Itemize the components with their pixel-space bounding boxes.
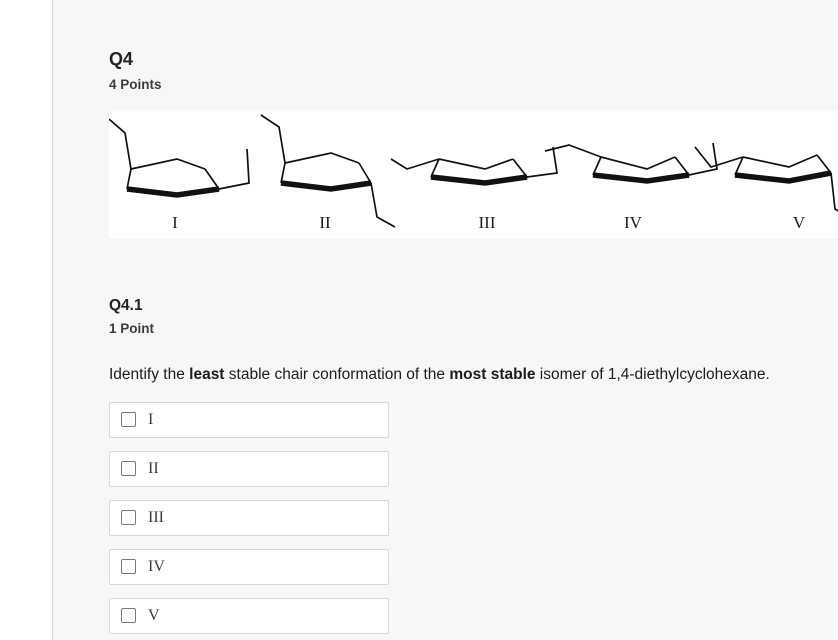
answer-option-i[interactable]: I — [109, 402, 389, 438]
structure-v: V — [695, 147, 838, 232]
prompt-part-2: stable chair conformation of the — [224, 366, 449, 383]
answer-option-v[interactable]: V — [109, 598, 389, 634]
chair-conformations-svg: I II — [109, 111, 838, 238]
checkbox-icon[interactable] — [121, 461, 136, 476]
question-header: Q4 4 Points — [109, 0, 838, 93]
page-title: Q4 — [109, 48, 838, 71]
structure-ii: II — [261, 115, 395, 232]
answer-option-label: V — [148, 608, 160, 624]
answer-option-ii[interactable]: II — [109, 451, 389, 487]
chair-conformations-figure: I II — [109, 111, 838, 238]
question-content-area: Q4 4 Points — [53, 0, 838, 640]
checkbox-icon[interactable] — [121, 559, 136, 574]
answer-option-iv[interactable]: IV — [109, 549, 389, 585]
prompt-emphasis-most-stable: most stable — [449, 366, 535, 383]
prompt-part-1: Identify the — [109, 366, 189, 383]
prompt-part-3: isomer of 1,4-diethylcyclohexane. — [536, 366, 770, 383]
subquestion-header: Q4.1 1 Point — [109, 238, 838, 338]
page-root: Q4 4 Points — [0, 0, 838, 640]
structure-i: I — [109, 119, 249, 232]
question-points: 4 Points — [109, 76, 838, 94]
subquestion-title: Q4.1 — [109, 296, 838, 315]
question-q4: Q4 4 Points — [53, 0, 838, 634]
answer-options-list: I II III IV V — [109, 402, 838, 634]
answer-option-label: I — [148, 412, 153, 428]
structure-iv: IV — [545, 143, 717, 232]
prompt-emphasis-least: least — [189, 366, 224, 383]
question-prompt: Identify the least stable chair conforma… — [109, 365, 838, 386]
figure-label-ii: II — [319, 213, 331, 232]
answer-option-label: III — [148, 510, 164, 526]
figure-label-i: I — [172, 213, 178, 232]
left-sidebar-rail — [0, 0, 53, 640]
figure-label-v: V — [793, 213, 806, 232]
answer-option-iii[interactable]: III — [109, 500, 389, 536]
checkbox-icon[interactable] — [121, 510, 136, 525]
answer-option-label: II — [148, 461, 159, 477]
figure-label-iii: III — [479, 213, 496, 232]
answer-option-label: IV — [148, 559, 165, 575]
checkbox-icon[interactable] — [121, 412, 136, 427]
figure-label-iv: IV — [624, 213, 643, 232]
subquestion-points: 1 Point — [109, 320, 838, 338]
checkbox-icon[interactable] — [121, 608, 136, 623]
structure-iii: III — [391, 147, 557, 232]
